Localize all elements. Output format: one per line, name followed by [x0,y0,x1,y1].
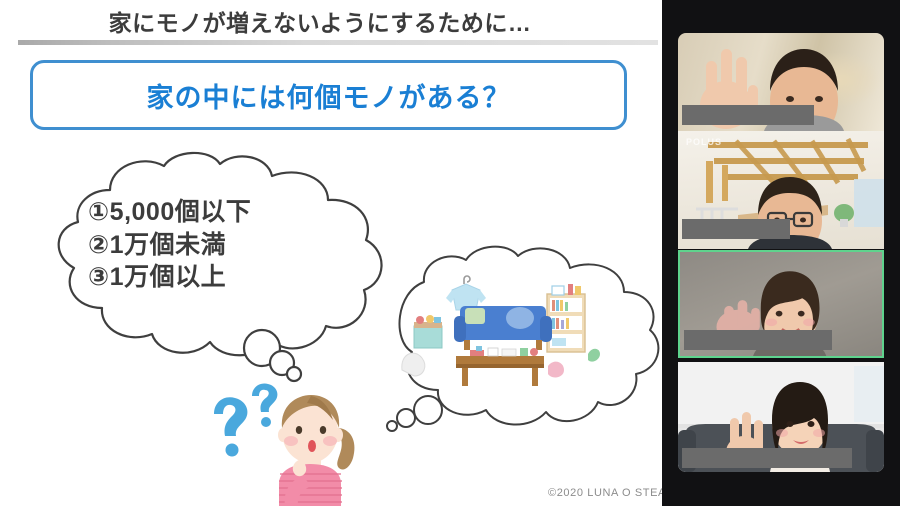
copyright-text: ©2020 LUNA O STEA [548,487,662,499]
option-item: ①5,000個以下 [88,196,368,229]
presentation-slide: 家にモノが増えないようにするために… 家の中には何個モノがある？ ①5,000個… [0,0,662,506]
room-thought-bubble [352,242,662,432]
options-list: ①5,000個以下 ②1万個未満 ③1万個以上 [88,196,368,294]
option-item: ③1万個以上 [88,261,368,294]
participant-name-redaction [684,330,832,350]
video-tile[interactable] [678,33,884,131]
background-watermark: POLUS [686,137,722,147]
bookshelf-icon [547,284,585,352]
option-item: ②1万個未満 [88,229,368,262]
video-tile[interactable] [678,362,884,472]
thinking-woman-illustration [255,382,370,506]
video-call-panel: POLUS [662,0,900,506]
video-tile-active-speaker[interactable] [678,250,884,358]
beanbag-icon [402,353,425,376]
question-box: 家の中には何個モノがある？ [30,60,627,130]
question-box-text: 家の中には何個モノがある？ [147,76,511,115]
title-divider [18,40,658,45]
participant-name-redaction [682,219,790,239]
participant-name-redaction [682,448,852,468]
toy-box-icon [414,315,442,348]
video-tile[interactable]: POLUS [678,131,884,249]
slide-title: 家にモノが増えないようにするために… [0,4,640,38]
participant-name-redaction [682,105,814,125]
screen-root: 家にモノが増えないようにするために… 家の中には何個モノがある？ ①5,000個… [0,0,900,506]
